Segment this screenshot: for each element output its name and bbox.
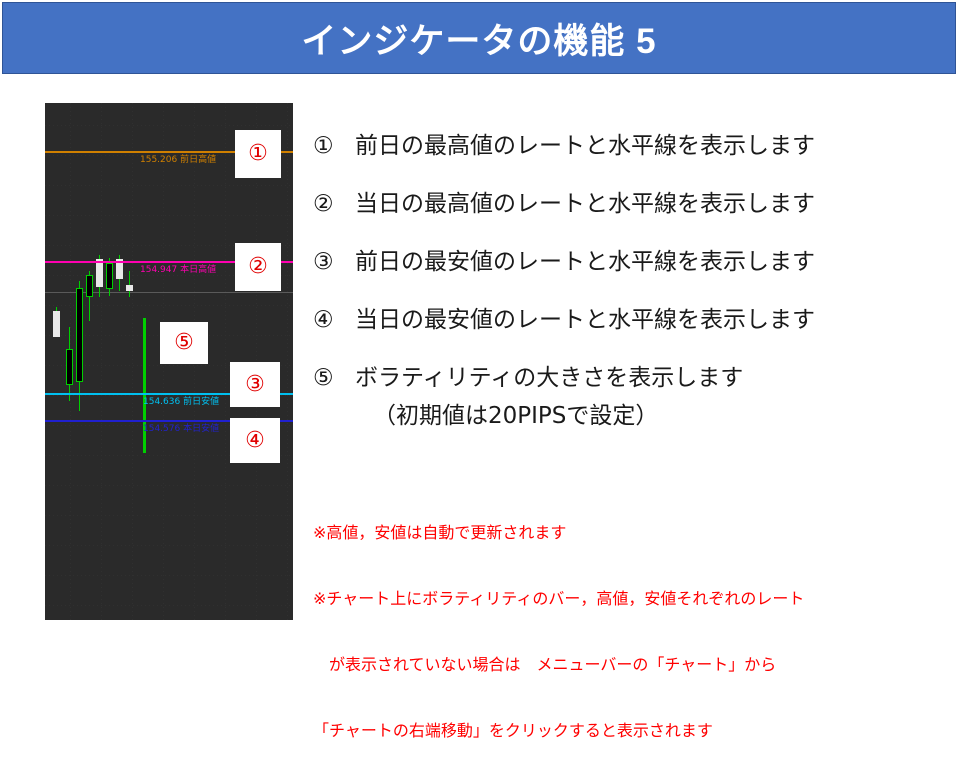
grid-line-horizontal: [45, 545, 293, 546]
price-label-prev-day-high: 155.206 前日高値: [140, 155, 216, 166]
note-line-4: 「チャートの右端移動」をクリックすると表示されます: [313, 720, 804, 742]
feature-item-4: ④ 当日の最安値のレートと水平線を表示します: [313, 300, 933, 334]
callout-box-3: ③: [230, 362, 280, 407]
callout-box-2: ②: [235, 243, 281, 291]
callout-glyph-4: ④: [245, 430, 265, 452]
feature-item-list: ① 前日の最高値のレートと水平線を表示します ② 当日の最高値のレートと水平線を…: [313, 126, 933, 430]
feature-item-2: ② 当日の最高値のレートと水平線を表示します: [313, 184, 933, 218]
grid-line-horizontal: [45, 185, 293, 186]
callout-glyph-3: ③: [245, 374, 265, 396]
feature-item-5-number: ⑤: [313, 365, 355, 391]
candle-body: [66, 349, 73, 385]
page-title: インジケータの機能 5: [301, 13, 656, 64]
grid-line-vertical: [101, 103, 102, 620]
candle-body: [96, 259, 103, 287]
feature-item-2-number: ②: [313, 191, 355, 217]
price-label-today-low: 154.576 本日安値: [143, 424, 219, 435]
grid-line-horizontal: [45, 515, 293, 516]
feature-item-1-number: ①: [313, 133, 355, 159]
callout-box-1: ①: [235, 130, 281, 178]
grid-line-horizontal: [45, 485, 293, 486]
candle-body: [76, 288, 83, 382]
price-label-today-high: 154.947 本日高値: [140, 265, 216, 276]
feature-item-5-subtext: （初期値は20PIPSで設定）: [373, 396, 933, 430]
feature-item-1-text: 前日の最高値のレートと水平線を表示します: [355, 126, 815, 160]
callout-glyph-2: ②: [248, 256, 268, 278]
candle-body: [106, 263, 113, 289]
notes-block: ※高値，安値は自動で更新されます ※チャート上にボラティリティのバー，高値，安値…: [313, 478, 804, 764]
callout-box-4: ④: [230, 418, 280, 463]
feature-item-4-number: ④: [313, 307, 355, 333]
feature-item-3-number: ③: [313, 249, 355, 275]
slide-title-banner: インジケータの機能 5: [2, 2, 956, 74]
grid-line-vertical: [132, 103, 133, 620]
grid-line-horizontal: [45, 215, 293, 216]
feature-item-3: ③ 前日の最安値のレートと水平線を表示します: [313, 242, 933, 276]
feature-item-2-text: 当日の最高値のレートと水平線を表示します: [355, 184, 815, 218]
price-label-prev-day-low: 154.636 前日安値: [143, 397, 219, 408]
grid-line-vertical: [225, 103, 226, 620]
callout-glyph-1: ①: [248, 143, 268, 165]
candle-wick: [129, 271, 130, 297]
note-line-1: ※高値，安値は自動で更新されます: [313, 522, 804, 544]
note-line-3: が表示されていない場合は メニューバーの「チャート」から: [313, 654, 804, 676]
candle-body: [126, 285, 133, 291]
feature-item-1: ① 前日の最高値のレートと水平線を表示します: [313, 126, 933, 160]
feature-item-4-text: 当日の最安値のレートと水平線を表示します: [355, 300, 815, 334]
grid-line-vertical: [287, 103, 288, 620]
candle-body: [53, 311, 60, 337]
feature-item-5-text: ボラティリティの大きさを表示します: [355, 358, 743, 392]
feature-item-3-text: 前日の最安値のレートと水平線を表示します: [355, 242, 815, 276]
candle-body: [86, 275, 93, 297]
grid-line-horizontal: [45, 575, 293, 576]
grid-line-horizontal: [45, 605, 293, 606]
note-line-2: ※チャート上にボラティリティのバー，高値，安値それぞれのレート: [313, 588, 804, 610]
callout-glyph-5: ⑤: [174, 332, 194, 354]
grid-line-horizontal: [45, 125, 293, 126]
feature-item-5: ⑤ ボラティリティの大きさを表示します: [313, 358, 933, 392]
callout-box-5: ⑤: [160, 322, 208, 364]
